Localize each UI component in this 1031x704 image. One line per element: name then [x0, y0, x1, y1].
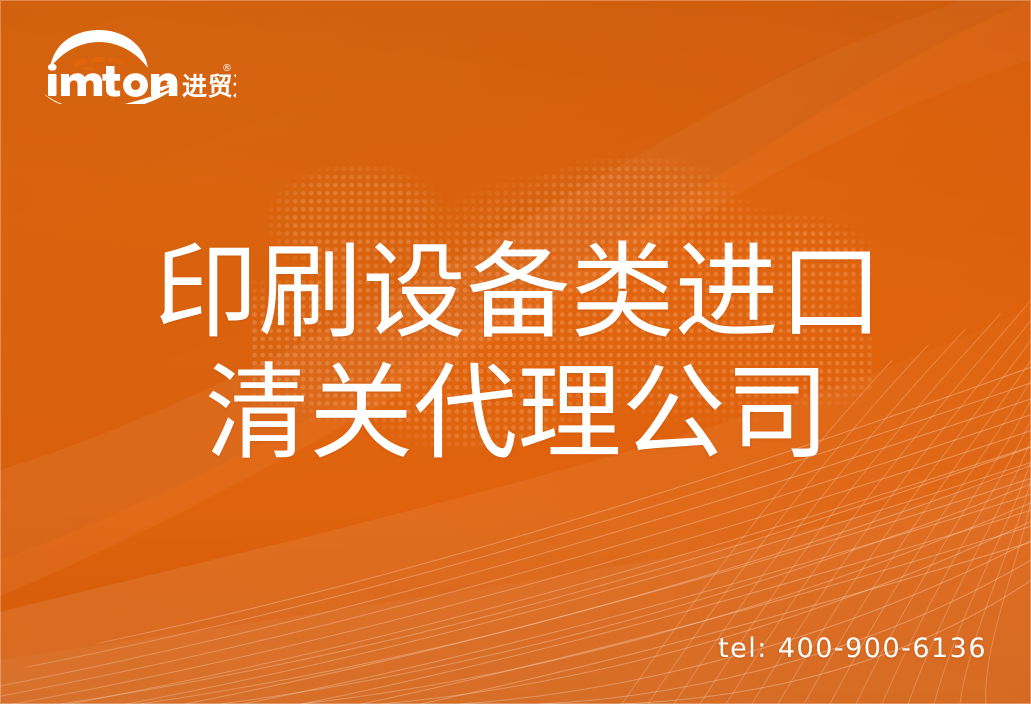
- logo-artwork: 进贸通 ®: [36, 26, 236, 104]
- headline-line-2: 清关代理公司: [0, 353, 1031, 474]
- logo-chinese-name: 进贸通: [182, 72, 236, 101]
- headline: 印刷设备类进口 清关代理公司: [0, 232, 1031, 473]
- logo-wordmark-imton: [48, 64, 177, 97]
- registered-trademark-icon: ®: [222, 63, 232, 74]
- headline-line-1: 印刷设备类进口: [0, 232, 1031, 353]
- company-logo[interactable]: 进贸通 ®: [36, 26, 236, 104]
- telephone-number[interactable]: tel: 400-900-6136: [718, 633, 987, 664]
- promotional-banner: 进贸通 ® 印刷设备类进口 清关代理公司 tel: 400-900-6136: [0, 0, 1031, 704]
- globe-arc-icon: [48, 28, 148, 70]
